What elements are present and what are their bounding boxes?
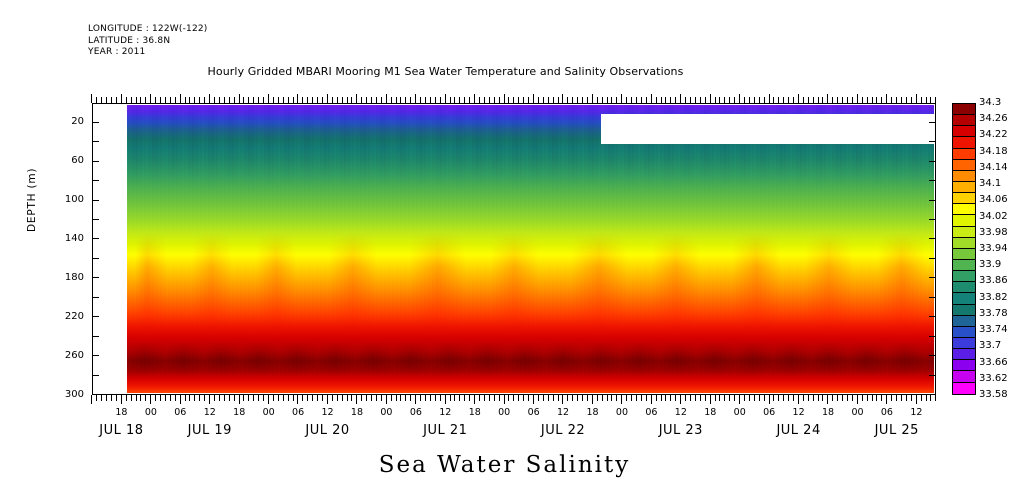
x-axis-major-tick: [769, 395, 770, 404]
x-axis-major-tick: [356, 94, 357, 103]
x-axis-major-tick: [121, 395, 122, 404]
x-axis-major-tick: [327, 94, 328, 103]
x-axis-minor-tick: [430, 395, 431, 401]
x-axis-minor-tick: [690, 395, 691, 401]
colorbar-swatch: [953, 171, 975, 182]
x-axis-minor-tick: [567, 395, 568, 401]
x-axis-minor-tick: [832, 395, 833, 401]
colorbar-tick-label: 34.14: [979, 162, 1008, 173]
x-axis-minor-tick: [400, 395, 401, 401]
x-axis-hour-label: 12: [667, 407, 695, 418]
x-axis-minor-tick: [808, 395, 809, 401]
x-axis-hour-label: 06: [873, 407, 901, 418]
x-axis-minor-tick: [665, 395, 666, 401]
x-axis-minor-tick: [204, 395, 205, 401]
x-axis-major-tick: [562, 395, 563, 404]
plot-area: [94, 105, 935, 394]
x-axis-minor-tick: [930, 395, 931, 401]
x-axis-minor-tick: [371, 395, 372, 401]
x-axis-minor-tick: [744, 395, 745, 401]
x-axis-major-tick: [474, 395, 475, 404]
x-axis-major-tick: [445, 94, 446, 103]
x-axis-major-tick: [621, 395, 622, 404]
colorbar-swatch: [953, 349, 975, 360]
x-axis-minor-tick: [778, 395, 779, 401]
x-axis-hour-label: 06: [755, 407, 783, 418]
colorbar-swatch: [953, 149, 975, 160]
x-axis-major-tick: [268, 395, 269, 404]
x-axis-hour-label: 00: [608, 407, 636, 418]
x-axis-minor-tick: [646, 395, 647, 401]
colorbar-tick-label: 33.9: [979, 259, 1001, 270]
colorbar-swatch: [953, 271, 975, 282]
x-axis-minor-tick: [234, 395, 235, 401]
x-axis-major-tick: [592, 395, 593, 404]
x-axis-minor-tick: [729, 395, 730, 401]
colorbar-swatch: [953, 293, 975, 304]
x-axis-minor-tick: [425, 395, 426, 401]
colorbar-tick-label: 33.86: [979, 275, 1008, 286]
chart-title: Hourly Gridded MBARI Mooring M1 Sea Wate…: [0, 65, 1009, 78]
x-axis-minor-tick: [935, 395, 936, 401]
x-axis-major-tick: [239, 94, 240, 103]
x-axis-minor-tick: [248, 395, 249, 401]
x-axis-major-tick: [827, 395, 828, 404]
colorbar-swatch: [953, 305, 975, 316]
x-axis-minor-tick: [273, 395, 274, 401]
x-axis-minor-tick: [695, 395, 696, 401]
x-axis-minor-tick: [538, 395, 539, 401]
x-axis-minor-tick: [754, 395, 755, 401]
x-axis-minor-tick: [896, 395, 897, 401]
x-axis-major-tick: [533, 395, 534, 404]
x-axis-minor-tick: [454, 395, 455, 401]
colorbar-swatch: [953, 371, 975, 382]
x-axis-major-tick: [710, 94, 711, 103]
x-axis-major-tick: [857, 395, 858, 404]
x-axis-minor-tick: [219, 395, 220, 401]
x-axis-minor-tick: [700, 395, 701, 401]
x-axis-major-tick: [180, 395, 181, 404]
x-axis-hour-label: 06: [520, 407, 548, 418]
x-axis-minor-tick: [661, 395, 662, 401]
x-axis-minor-tick: [170, 395, 171, 401]
x-axis-major-tick: [651, 94, 652, 103]
x-axis-minor-tick: [548, 395, 549, 401]
x-axis-minor-tick: [818, 395, 819, 401]
x-axis-major-tick: [798, 395, 799, 404]
colorbar-tick-label: 34.06: [979, 194, 1008, 205]
x-axis-minor-tick: [243, 395, 244, 401]
x-axis-minor-tick: [881, 395, 882, 401]
x-axis-major-tick: [680, 94, 681, 103]
x-axis-major-tick: [180, 94, 181, 103]
x-axis-minor-tick: [396, 395, 397, 401]
colorbar-swatch: [953, 360, 975, 371]
colorbar-swatch: [953, 215, 975, 226]
x-axis-major-tick: [239, 395, 240, 404]
x-axis-minor-tick: [189, 395, 190, 401]
x-axis-minor-tick: [464, 395, 465, 401]
x-axis-major-tick: [651, 395, 652, 404]
x-axis-minor-tick: [293, 395, 294, 401]
latitude-text: LATITUDE : 36.8N: [88, 36, 208, 48]
colorbar-swatch: [953, 338, 975, 349]
x-axis-major-tick: [297, 94, 298, 103]
x-axis-day-label: JUL 23: [636, 423, 726, 438]
x-axis-minor-tick: [185, 395, 186, 401]
colorbar-tick-label: 33.94: [979, 243, 1008, 254]
x-axis-minor-tick: [136, 395, 137, 401]
colorbar: [952, 103, 976, 395]
x-axis-minor-tick: [891, 395, 892, 401]
x-axis-minor-tick: [670, 395, 671, 401]
x-axis-minor-tick: [847, 395, 848, 401]
x-axis-day-label: JUL 21: [400, 423, 490, 438]
x-axis-minor-tick: [607, 395, 608, 401]
x-axis-minor-tick: [626, 395, 627, 401]
y-axis-label: 140: [52, 233, 84, 244]
x-axis-hour-label: 06: [166, 407, 194, 418]
x-axis-minor-tick: [361, 395, 362, 401]
colorbar-swatch: [953, 115, 975, 126]
x-axis-minor-tick: [381, 395, 382, 401]
x-axis-major-tick: [297, 395, 298, 404]
x-axis-minor-tick: [106, 395, 107, 401]
y-axis-label: 220: [52, 311, 84, 322]
colorbar-tick-label: 33.7: [979, 340, 1001, 351]
x-axis-minor-tick: [160, 395, 161, 401]
x-axis-minor-tick: [572, 395, 573, 401]
x-axis-major-tick: [209, 395, 210, 404]
x-axis-major-tick: [386, 395, 387, 404]
y-axis-label: 260: [52, 350, 84, 361]
x-axis-minor-tick: [715, 395, 716, 401]
colorbar-swatch: [953, 126, 975, 137]
x-axis-minor-tick: [194, 395, 195, 401]
x-axis-major-tick: [356, 395, 357, 404]
colorbar-swatch: [953, 316, 975, 327]
x-axis-minor-tick: [258, 395, 259, 401]
longitude-text: LONGITUDE : 122W(-122): [88, 24, 208, 36]
y-axis-label: 300: [52, 389, 84, 400]
colorbar-tick-label: 33.66: [979, 357, 1008, 368]
x-axis-minor-tick: [518, 395, 519, 401]
x-axis-minor-tick: [332, 395, 333, 401]
no-data-gap: [601, 114, 934, 144]
year-text: YEAR : 2011: [88, 47, 208, 59]
x-axis-minor-tick: [528, 395, 529, 401]
x-axis-minor-tick: [513, 395, 514, 401]
x-axis-minor-tick: [224, 395, 225, 401]
x-axis-minor-tick: [872, 395, 873, 401]
x-axis-major-tick: [386, 94, 387, 103]
x-axis-minor-tick: [508, 395, 509, 401]
x-axis-minor-tick: [410, 395, 411, 401]
colorbar-tick-label: 34.26: [979, 113, 1008, 124]
x-axis-hour-label: 12: [902, 407, 930, 418]
colorbar-tick-label: 33.78: [979, 308, 1008, 319]
x-axis-hour-label: 18: [225, 407, 253, 418]
x-axis-major-tick: [150, 94, 151, 103]
x-axis-minor-tick: [126, 395, 127, 401]
x-axis-major-tick: [268, 94, 269, 103]
x-axis-minor-tick: [405, 395, 406, 401]
colorbar-swatch: [953, 249, 975, 260]
x-axis-day-label: JUL 18: [76, 423, 166, 438]
x-axis-minor-tick: [553, 395, 554, 401]
colorbar-swatch: [953, 282, 975, 293]
x-axis-minor-tick: [489, 395, 490, 401]
x-axis-minor-tick: [867, 395, 868, 401]
x-axis-hour-label: 06: [284, 407, 312, 418]
y-axis-title: DEPTH (m): [26, 168, 38, 232]
x-axis-major-tick: [592, 94, 593, 103]
x-axis-minor-tick: [597, 395, 598, 401]
x-axis-minor-tick: [288, 395, 289, 401]
x-axis-hour-label: 12: [314, 407, 342, 418]
x-axis-major-tick: [121, 94, 122, 103]
y-axis-label: 100: [52, 194, 84, 205]
x-axis-minor-tick: [558, 395, 559, 401]
x-axis-minor-tick: [312, 395, 313, 401]
x-axis-minor-tick: [901, 395, 902, 401]
x-axis-minor-tick: [420, 395, 421, 401]
x-axis-minor-tick: [631, 395, 632, 401]
x-axis-minor-tick: [229, 395, 230, 401]
x-axis-major-tick: [415, 395, 416, 404]
colorbar-tick-label: 33.82: [979, 292, 1008, 303]
x-axis-minor-tick: [140, 395, 141, 401]
x-axis-minor-tick: [842, 395, 843, 401]
x-axis-minor-tick: [602, 395, 603, 401]
colorbar-tick-label: 34.3: [979, 97, 1001, 108]
x-axis-minor-tick: [155, 395, 156, 401]
x-axis-major-tick: [91, 395, 92, 404]
x-axis-minor-tick: [705, 395, 706, 401]
x-axis-minor-tick: [322, 395, 323, 401]
x-axis-minor-tick: [469, 395, 470, 401]
y-axis-label: 60: [52, 155, 84, 166]
x-axis-minor-tick: [724, 395, 725, 401]
colorbar-tick-label: 34.02: [979, 211, 1008, 222]
x-axis-minor-tick: [636, 395, 637, 401]
x-axis-minor-tick: [337, 395, 338, 401]
x-axis-major-tick: [621, 94, 622, 103]
x-axis-major-tick: [327, 395, 328, 404]
x-axis-major-tick: [857, 94, 858, 103]
x-axis-major-tick: [886, 94, 887, 103]
x-axis-major-tick: [710, 395, 711, 404]
y-axis-label: 20: [52, 116, 84, 127]
x-axis-major-tick: [916, 94, 917, 103]
x-axis-major-tick: [504, 395, 505, 404]
colorbar-swatch: [953, 182, 975, 193]
x-axis-minor-tick: [862, 395, 863, 401]
x-axis-major-tick: [533, 94, 534, 103]
x-axis-hour-label: 18: [461, 407, 489, 418]
colorbar-tick-label: 34.22: [979, 129, 1008, 140]
colorbar-swatch: [953, 193, 975, 204]
x-axis-minor-tick: [131, 395, 132, 401]
x-axis-minor-tick: [351, 395, 352, 401]
x-axis-hour-label: 06: [637, 407, 665, 418]
x-axis-minor-tick: [783, 395, 784, 401]
x-axis-minor-tick: [764, 395, 765, 401]
colorbar-labels: 34.334.2634.2234.1834.1434.134.0634.0233…: [979, 95, 1009, 405]
x-axis-major-tick: [562, 94, 563, 103]
x-axis-minor-tick: [499, 395, 500, 401]
x-axis-minor-tick: [116, 395, 117, 401]
x-axis-minor-tick: [582, 395, 583, 401]
x-axis-major-tick: [769, 94, 770, 103]
x-axis-hour-label: 18: [107, 407, 135, 418]
colorbar-tick-label: 34.1: [979, 178, 1001, 189]
x-axis-hour-label: 12: [549, 407, 577, 418]
x-axis-minor-tick: [165, 395, 166, 401]
x-axis-minor-tick: [773, 395, 774, 401]
x-axis-major-tick: [415, 94, 416, 103]
x-axis-minor-tick: [543, 395, 544, 401]
x-axis-minor-tick: [459, 395, 460, 401]
x-axis-minor-tick: [435, 395, 436, 401]
y-axis-label: 180: [52, 272, 84, 283]
x-axis-major-tick: [916, 395, 917, 404]
x-axis-minor-tick: [611, 395, 612, 401]
x-axis-minor-tick: [199, 395, 200, 401]
x-axis-minor-tick: [302, 395, 303, 401]
x-axis-day-label: JUL 19: [165, 423, 255, 438]
x-axis-minor-tick: [450, 395, 451, 401]
x-axis-minor-tick: [759, 395, 760, 401]
chart-title-text: Hourly Gridded MBARI Mooring M1 Sea Wate…: [208, 65, 684, 78]
x-axis-minor-tick: [852, 395, 853, 401]
x-axis-hour-label: 12: [196, 407, 224, 418]
colorbar-tick-label: 34.18: [979, 146, 1008, 157]
x-axis-hour-label: 06: [402, 407, 430, 418]
x-axis-major-tick: [150, 395, 151, 404]
x-axis-minor-tick: [145, 395, 146, 401]
x-axis-minor-tick: [719, 395, 720, 401]
x-axis-major-tick: [680, 395, 681, 404]
x-axis-minor-tick: [788, 395, 789, 401]
x-axis-major-tick: [91, 94, 92, 103]
x-axis-minor-tick: [479, 395, 480, 401]
colorbar-swatch: [953, 383, 975, 394]
x-axis-minor-tick: [484, 395, 485, 401]
colorbar-swatch: [953, 227, 975, 238]
colorbar-tick-label: 33.62: [979, 373, 1008, 384]
x-axis-minor-tick: [342, 395, 343, 401]
x-axis-minor-tick: [803, 395, 804, 401]
x-axis-minor-tick: [921, 395, 922, 401]
x-axis-minor-tick: [347, 395, 348, 401]
x-axis-hour-label: 12: [785, 407, 813, 418]
x-axis-minor-tick: [906, 395, 907, 401]
x-axis-hour-label: 18: [343, 407, 371, 418]
x-axis-minor-tick: [101, 395, 102, 401]
variable-name-title: Sea Water Salinity: [0, 452, 1009, 478]
colorbar-swatch: [953, 327, 975, 338]
x-axis-hour-label: 00: [726, 407, 754, 418]
x-axis-minor-tick: [734, 395, 735, 401]
x-axis-minor-tick: [307, 395, 308, 401]
x-axis-minor-tick: [283, 395, 284, 401]
x-axis-major-tick: [445, 395, 446, 404]
x-axis-minor-tick: [749, 395, 750, 401]
x-axis-minor-tick: [641, 395, 642, 401]
x-axis-hour-label: 00: [372, 407, 400, 418]
x-axis-minor-tick: [376, 395, 377, 401]
x-axis-minor-tick: [278, 395, 279, 401]
x-axis-minor-tick: [440, 395, 441, 401]
x-axis-hour-label: 00: [843, 407, 871, 418]
x-axis-major-tick: [474, 94, 475, 103]
x-axis-major-tick: [739, 94, 740, 103]
x-axis-minor-tick: [366, 395, 367, 401]
x-axis-minor-tick: [111, 395, 112, 401]
colorbar-swatch: [953, 204, 975, 215]
colorbar-swatch: [953, 260, 975, 271]
x-axis-minor-tick: [685, 395, 686, 401]
x-axis-minor-tick: [253, 395, 254, 401]
x-axis-minor-tick: [813, 395, 814, 401]
x-axis-minor-tick: [96, 395, 97, 401]
x-axis-minor-tick: [822, 395, 823, 401]
x-axis-hour-label: 00: [490, 407, 518, 418]
x-axis-major-tick: [798, 94, 799, 103]
x-axis-minor-tick: [587, 395, 588, 401]
x-axis-minor-tick: [494, 395, 495, 401]
x-axis-day-label: JUL 20: [283, 423, 373, 438]
x-axis-minor-tick: [616, 395, 617, 401]
x-axis-day-label: JUL 25: [852, 423, 942, 438]
heatmap-contour-texture: [127, 105, 934, 394]
x-axis-minor-tick: [675, 395, 676, 401]
x-axis-hour-label: 12: [431, 407, 459, 418]
x-axis-hour-label: 18: [696, 407, 724, 418]
x-axis-minor-tick: [876, 395, 877, 401]
metadata-block: LONGITUDE : 122W(-122) LATITUDE : 36.8N …: [88, 24, 208, 59]
colorbar-tick-label: 33.58: [979, 389, 1008, 400]
x-axis-hour-label: 00: [137, 407, 165, 418]
x-axis-minor-tick: [263, 395, 264, 401]
x-axis-minor-tick: [911, 395, 912, 401]
x-axis-hour-label: 00: [255, 407, 283, 418]
x-axis-minor-tick: [793, 395, 794, 401]
x-axis-minor-tick: [926, 395, 927, 401]
x-axis-minor-tick: [317, 395, 318, 401]
x-axis-hour-label: 18: [579, 407, 607, 418]
x-axis-major-tick: [209, 94, 210, 103]
x-axis-day-label: JUL 22: [518, 423, 608, 438]
x-axis-minor-tick: [175, 395, 176, 401]
x-axis-major-tick: [886, 395, 887, 404]
x-axis-minor-tick: [656, 395, 657, 401]
x-axis-minor-tick: [523, 395, 524, 401]
x-axis-minor-tick: [214, 395, 215, 401]
colorbar-swatch: [953, 104, 975, 115]
x-axis-minor-tick: [577, 395, 578, 401]
x-axis-major-tick: [504, 94, 505, 103]
x-axis-day-label: JUL 24: [754, 423, 844, 438]
colorbar-swatch: [953, 238, 975, 249]
colorbar-swatch: [953, 160, 975, 171]
colorbar-tick-label: 33.74: [979, 324, 1008, 335]
x-axis-minor-tick: [391, 395, 392, 401]
x-axis-major-tick: [739, 395, 740, 404]
x-axis-minor-tick: [837, 395, 838, 401]
